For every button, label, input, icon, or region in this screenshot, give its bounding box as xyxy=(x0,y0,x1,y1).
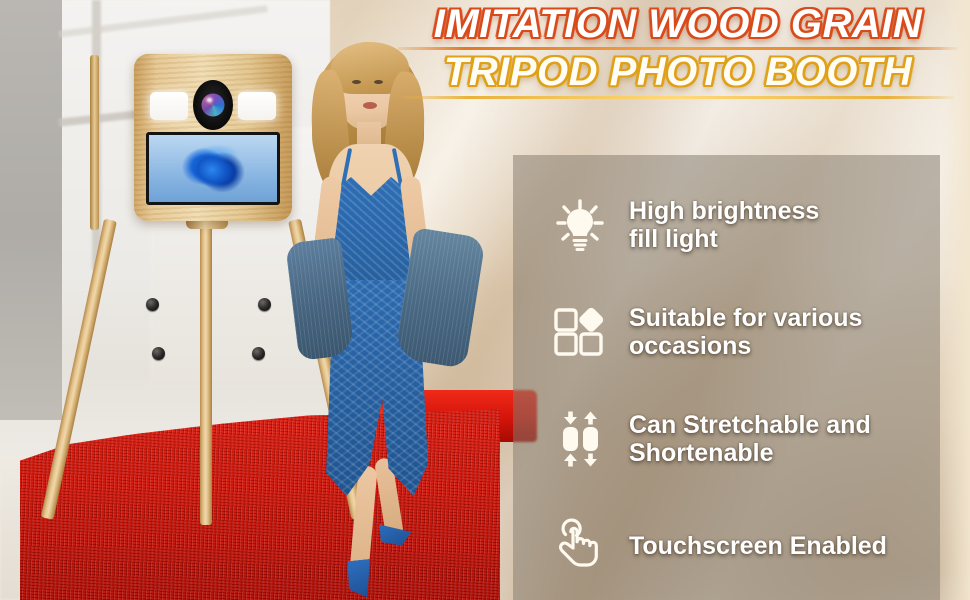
background-wall-left xyxy=(0,0,62,420)
model-lips xyxy=(363,102,377,109)
stretch-arrows-icon xyxy=(551,410,609,468)
fill-light-left xyxy=(150,92,188,120)
camera-lens-glass xyxy=(202,94,225,117)
feature-label-line-1: Can Stretchable and xyxy=(629,411,871,439)
feature-item-stretchable: Can Stretchable and Shortenable xyxy=(513,395,940,483)
feature-label: High brightness fill light xyxy=(629,197,819,253)
tripod-knob[interactable] xyxy=(146,298,159,311)
feature-label-line-2: occasions xyxy=(629,332,862,360)
product-title: IMITATION WOOD GRAIN TRIPOD PHOTO BOOTH xyxy=(392,4,964,99)
tripod-leg-center xyxy=(200,215,212,525)
feature-label: Suitable for various occasions xyxy=(629,304,862,360)
female-model xyxy=(276,26,504,600)
tripod-knob[interactable] xyxy=(152,347,165,360)
touchscreen-display[interactable] xyxy=(146,132,280,205)
tripod-knob[interactable] xyxy=(252,347,265,360)
feature-label: Touchscreen Enabled xyxy=(629,532,887,560)
model-eye-right xyxy=(374,80,383,84)
feature-item-touchscreen: Touchscreen Enabled xyxy=(513,502,940,590)
feature-label: Can Stretchable and Shortenable xyxy=(629,411,871,467)
model-eye-left xyxy=(352,80,361,84)
tripod-leg-center-lower xyxy=(90,55,99,230)
camera-lens xyxy=(193,80,233,130)
lightbulb-icon xyxy=(551,198,609,252)
feature-label-line-1: Touchscreen Enabled xyxy=(629,532,887,560)
fill-light-right xyxy=(238,92,276,120)
feature-item-high-brightness: High brightness fill light xyxy=(513,181,940,269)
product-poster: IMITATION WOOD GRAIN TRIPOD PHOTO BOOTH xyxy=(0,0,970,600)
feature-item-various-occasions: Suitable for various occasions xyxy=(513,288,940,376)
feature-label-line-1: Suitable for various xyxy=(629,304,862,332)
feature-label-line-1: High brightness xyxy=(629,197,819,225)
title-underline-2 xyxy=(402,96,954,99)
model-shoe-front xyxy=(346,559,374,599)
wood-grain-photo-booth xyxy=(134,54,292,221)
grid-squares-icon xyxy=(551,307,609,357)
feature-label-line-2: fill light xyxy=(629,225,819,253)
tripod-knob[interactable] xyxy=(258,298,271,311)
feature-label-line-2: Shortenable xyxy=(629,439,871,467)
title-line-1: IMITATION WOOD GRAIN xyxy=(392,4,964,44)
touch-hand-icon xyxy=(551,518,609,574)
title-line-2: TRIPOD PHOTO BOOTH xyxy=(392,52,964,92)
feature-panel: High brightness fill light Suitable for … xyxy=(513,155,940,600)
